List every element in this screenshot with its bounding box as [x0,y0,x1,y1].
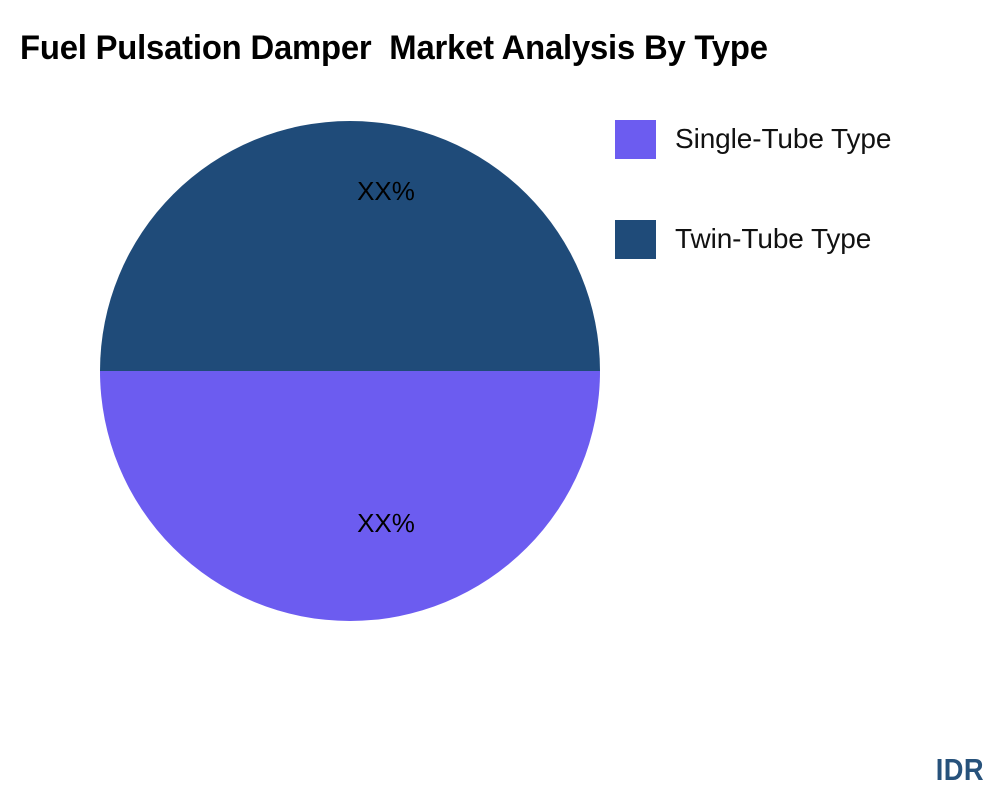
legend-swatch-single-tube [615,120,656,159]
legend-item-twin-tube[interactable]: Twin-Tube Type [615,218,985,318]
chart-canvas: Fuel Pulsation Damper Market Analysis By… [0,0,1000,800]
pie-label-single-tube: XX% [357,508,415,538]
pie-slice-twin-tube[interactable] [100,121,600,371]
legend: Single-Tube Type Twin-Tube Type [615,118,985,318]
legend-item-single-tube[interactable]: Single-Tube Type [615,118,985,218]
legend-label-single-tube: Single-Tube Type [675,118,891,160]
legend-swatch-twin-tube [615,220,656,259]
chart-title: Fuel Pulsation Damper Market Analysis By… [20,25,946,71]
idr-watermark-logo: IDR [910,752,984,788]
legend-label-twin-tube: Twin-Tube Type [675,218,871,260]
pie-chart: XX% XX% [100,121,600,621]
pie-label-twin-tube: XX% [357,176,415,206]
pie-chart-svg: XX% XX% [100,121,600,621]
pie-slice-single-tube[interactable] [100,371,600,621]
